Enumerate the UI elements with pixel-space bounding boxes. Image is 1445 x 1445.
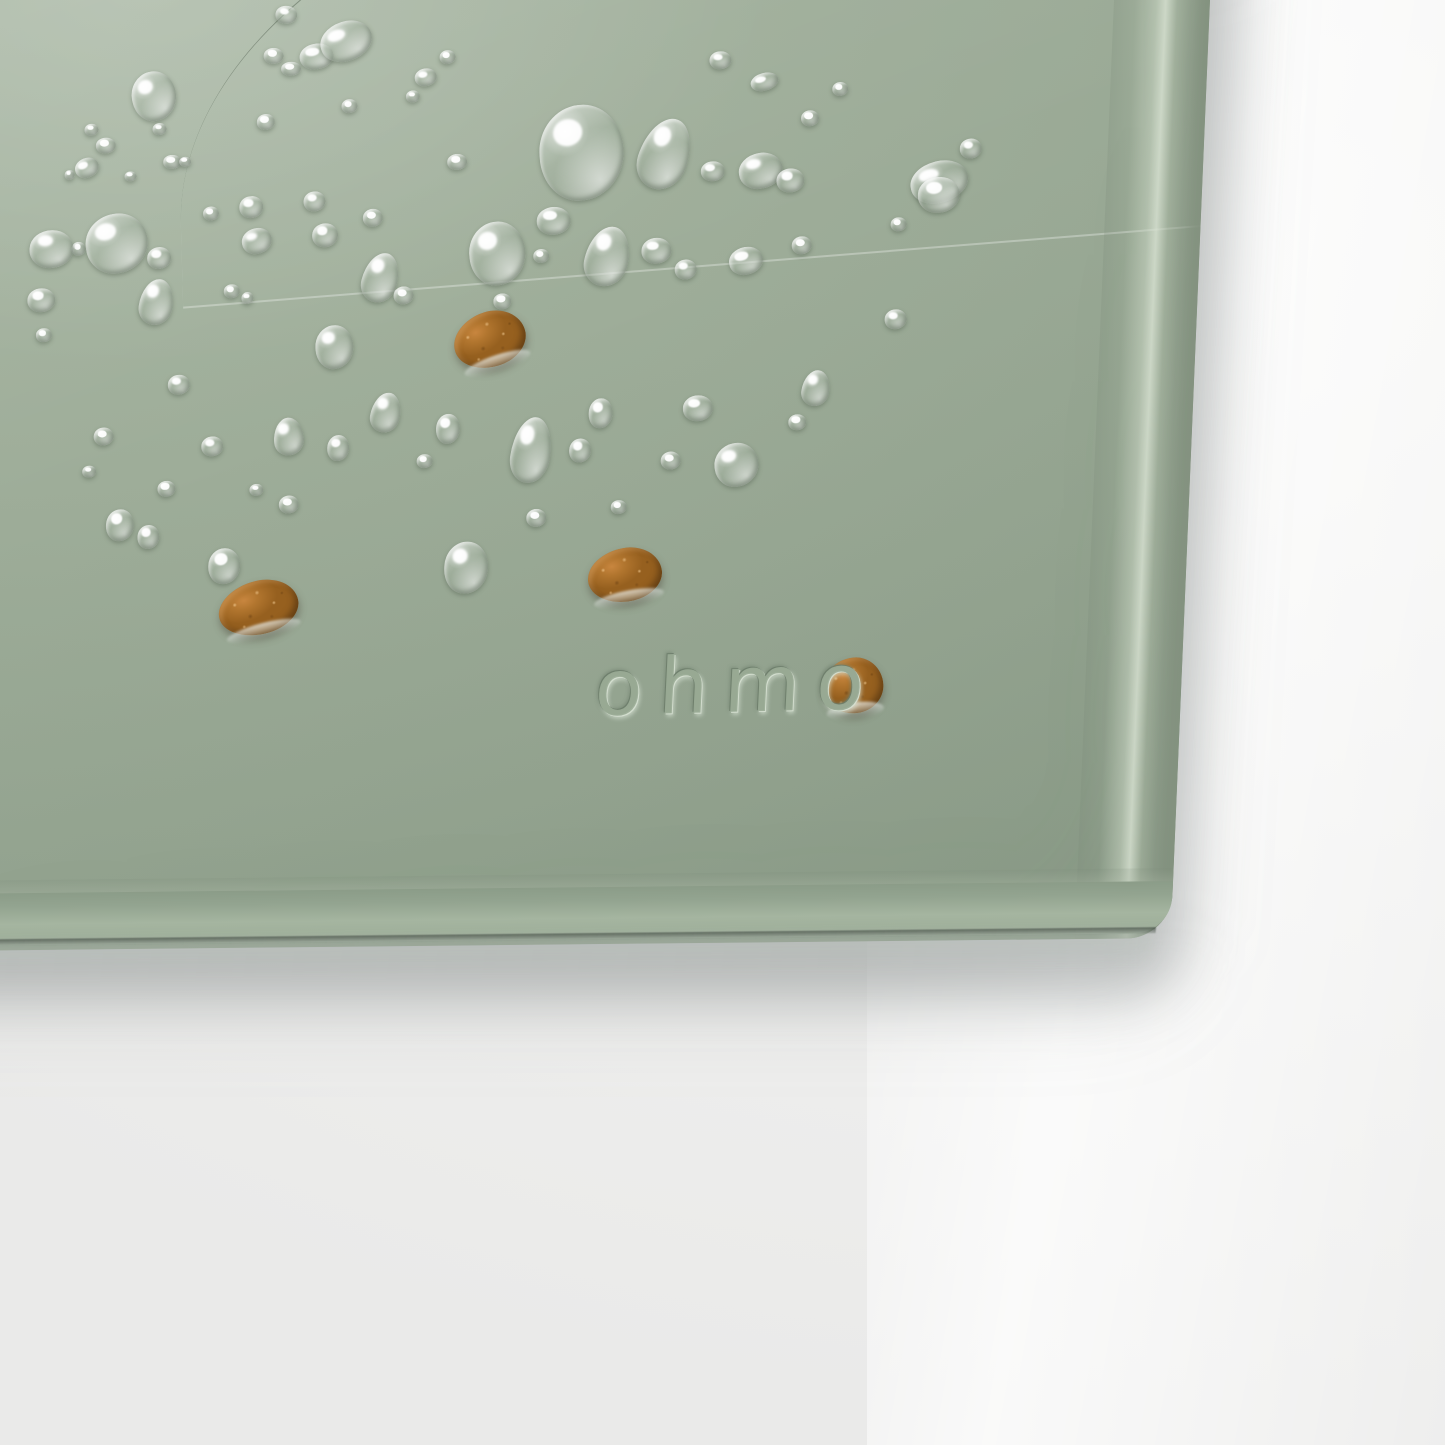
- brand-logo-embossed: ohmo: [593, 637, 883, 734]
- marketing-text-panel: 100% Waterproof •Easy to wipe up•Keep th…: [0, 975, 1445, 1445]
- pet-feeding-mat: ohmo: [0, 0, 1216, 952]
- product-marketing-image: ohmo 100% Waterproof •Easy to wipe up•Ke…: [0, 0, 1445, 1445]
